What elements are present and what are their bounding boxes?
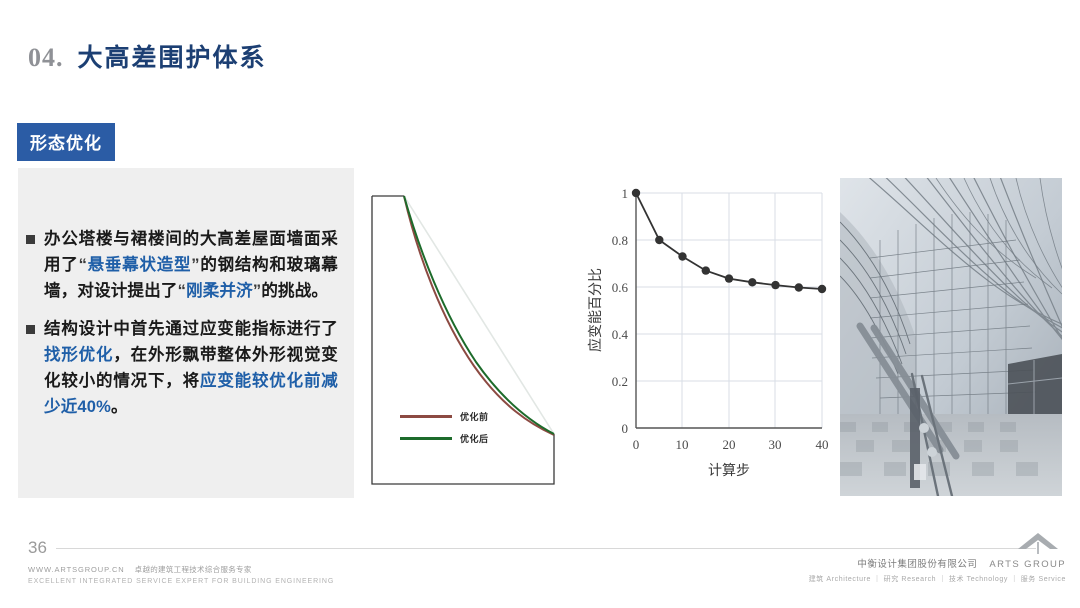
x-tick-label: 30: [769, 437, 782, 452]
baseline-straight-line: [404, 196, 554, 434]
footer-divider: [56, 548, 1036, 549]
text-run: 的挑战。: [261, 282, 328, 300]
y-axis-label: 应变能百分比: [587, 268, 604, 352]
text-run: ”: [191, 256, 199, 274]
page-header: 04. 大高差围护体系: [28, 38, 267, 74]
x-axis-label: 计算步: [708, 463, 750, 479]
legend-item: 优化后: [400, 432, 489, 445]
y-tick-label: 0.6: [612, 280, 629, 295]
footer-company-cn: 中衡设计集团股份有限公司: [857, 559, 977, 570]
footer-slogan-en: EXCELLENT INTEGRATED SERVICE EXPERT FOR …: [28, 578, 334, 585]
section-number: 04.: [28, 43, 64, 73]
list-item: 结构设计中首先通过应变能指标进行了找形优化，在外形飘带整体外形视觉变化较小的情况…: [26, 316, 338, 420]
legend-label-after: 优化后: [460, 432, 489, 445]
slide-root: 04. 大高差围护体系 形态优化 办公塔楼与裙楼间的大高差屋面墙面采用了“悬垂幕…: [0, 0, 1080, 608]
line-chart-svg: 0 0.2 0.4 0.6 0.8 1 0 10 20 30 40 计算步 应变…: [578, 178, 836, 498]
chart-legend: 优化前 优化后: [400, 410, 489, 454]
legend-swatch-before: [400, 415, 452, 418]
legend-label-before: 优化前: [460, 410, 489, 423]
text-run: 刚柔并济: [186, 282, 253, 300]
footer-tagline: 建筑 Architecture ｜ 研究 Research ｜ 技术 Techn…: [809, 574, 1066, 584]
text-run: 结构设计中首先通过应变能指标进行了: [44, 320, 338, 338]
footer-slogan-cn: 卓越的建筑工程技术综合服务专家: [135, 565, 252, 574]
y-tick-label: 0: [622, 421, 629, 436]
footer-url-line: WWW.ARTSGROUP.CN卓越的建筑工程技术综合服务专家: [28, 564, 334, 575]
text-run: “: [178, 282, 186, 300]
bullet-square-icon: [26, 325, 35, 334]
atrium-photo: [840, 178, 1062, 496]
footer-right: 中衡设计集团股份有限公司ARTS GROUP 建筑 Architecture ｜…: [809, 556, 1066, 584]
strain-energy-chart: 0 0.2 0.4 0.6 0.8 1 0 10 20 30 40 计算步 应变…: [578, 178, 836, 498]
text-run: 。: [111, 398, 128, 416]
x-tick-label: 0: [633, 437, 640, 452]
bullet-list: 办公塔楼与裙楼间的大高差屋面墙面采用了“悬垂幕状造型”的钢结构和玻璃幕墙，对设计…: [18, 168, 354, 420]
legend-swatch-after: [400, 437, 452, 440]
footer-left: WWW.ARTSGROUP.CN卓越的建筑工程技术综合服务专家 EXCELLEN…: [28, 564, 334, 585]
page-footer: 36 WWW.ARTSGROUP.CN卓越的建筑工程技术综合服务专家 EXCEL…: [0, 536, 1080, 608]
y-tick-label: 0.8: [612, 233, 628, 248]
footer-url: WWW.ARTSGROUP.CN: [28, 565, 125, 574]
x-tick-label: 10: [676, 437, 689, 452]
footer-company-en: ARTS GROUP: [989, 559, 1066, 570]
x-tick-label: 20: [723, 437, 736, 452]
page-number: 36: [28, 538, 47, 558]
text-run: 找形优化: [44, 346, 113, 364]
arts-group-logo-icon: [1016, 530, 1060, 560]
text-run: 悬垂幕状造型: [87, 256, 191, 274]
legend-item: 优化前: [400, 410, 489, 423]
shape-comparison-chart: 优化前 优化后: [370, 190, 556, 490]
bullet-text: 结构设计中首先通过应变能指标进行了找形优化，在外形飘带整体外形视觉变化较小的情况…: [44, 316, 338, 420]
atrium-photo-svg: [840, 178, 1062, 496]
text-run: “: [79, 256, 87, 274]
text-panel: 办公塔楼与裙楼间的大高差屋面墙面采用了“悬垂幕状造型”的钢结构和玻璃幕墙，对设计…: [18, 168, 354, 498]
content-area: 办公塔楼与裙楼间的大高差屋面墙面采用了“悬垂幕状造型”的钢结构和玻璃幕墙，对设计…: [18, 168, 1062, 498]
bullet-text: 办公塔楼与裙楼间的大高差屋面墙面采用了“悬垂幕状造型”的钢结构和玻璃幕墙，对设计…: [44, 226, 338, 304]
y-tick-label: 0.4: [612, 327, 629, 342]
y-tick-label: 0.2: [612, 374, 628, 389]
x-tick-label: 40: [816, 437, 829, 452]
chart-gridlines: [636, 193, 822, 428]
bullet-square-icon: [26, 235, 35, 244]
page-title: 大高差围护体系: [78, 38, 267, 74]
section-badge: 形态优化: [18, 124, 114, 160]
y-tick-label: 1: [622, 186, 629, 201]
list-item: 办公塔楼与裙楼间的大高差屋面墙面采用了“悬垂幕状造型”的钢结构和玻璃幕墙，对设计…: [26, 226, 338, 304]
